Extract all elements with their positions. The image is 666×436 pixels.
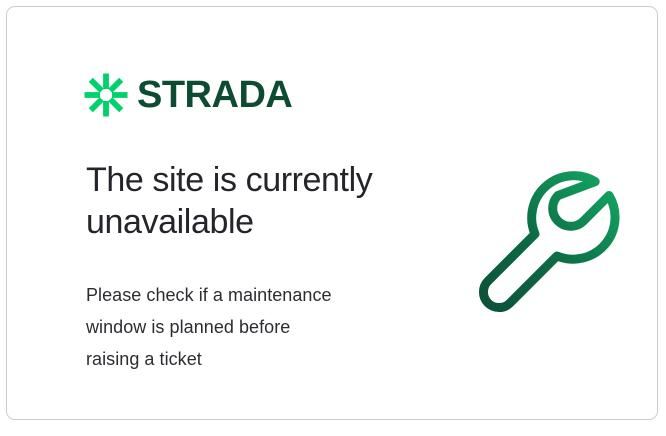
wrench-icon: [459, 159, 624, 324]
maintenance-card: STRADA The site is currently unavailable…: [6, 6, 658, 420]
message-body-line: raising a ticket: [86, 343, 416, 375]
asterisk-starburst-icon: [84, 73, 128, 117]
strada-logo-mark: [84, 73, 128, 117]
message-body: Please check if a maintenance window is …: [86, 279, 416, 375]
message-body-line: Please check if a maintenance: [86, 279, 416, 311]
wrench-illustration: [459, 159, 624, 324]
brand-logo: STRADA: [84, 73, 292, 117]
page-title: The site is currently unavailable: [86, 159, 446, 243]
brand-wordmark: STRADA: [137, 76, 292, 114]
message-body-line: window is planned before: [86, 311, 416, 343]
